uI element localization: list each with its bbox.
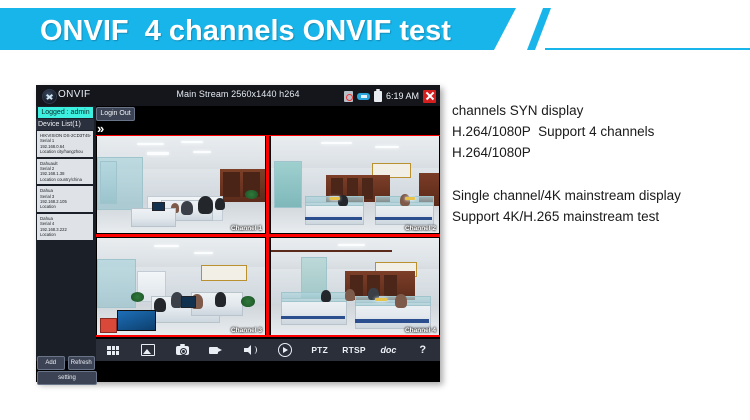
device-location: Location <box>40 204 91 209</box>
video-cell-channel-4[interactable]: Channel 4 <box>271 238 439 335</box>
device-list-header: Device List(1) <box>36 119 94 130</box>
video-grid: Channel 1 <box>96 135 440 337</box>
description-line-1: channels SYN display <box>452 100 742 121</box>
description-line-2: H.264/1080P Support 4 channels <box>452 121 742 142</box>
ptz-button[interactable]: PTZ <box>302 339 336 361</box>
battery-icon <box>374 91 382 102</box>
channel-label: Channel 2 <box>405 225 436 232</box>
help-button[interactable]: ? <box>406 339 440 361</box>
grid-divider-horizontal <box>96 234 440 237</box>
header-banner: ONVIF 4 channels ONVIF test <box>0 8 750 50</box>
description-line-4: Single channel/4K mainstream display <box>452 185 742 206</box>
banner-chevron-shape <box>525 8 570 50</box>
description-panel: channels SYN display H.264/1080P Support… <box>452 100 742 227</box>
device-location: Location country/china <box>40 177 91 182</box>
playback-button[interactable] <box>268 339 302 361</box>
channel-label: Channel 4 <box>405 327 436 334</box>
audio-button[interactable] <box>234 339 268 361</box>
grid-border-bottom <box>96 335 440 337</box>
play-icon <box>278 343 292 357</box>
record-video-button[interactable] <box>199 339 233 361</box>
help-icon: ? <box>419 344 426 356</box>
speaker-icon <box>244 345 257 355</box>
list-item[interactable]: Dahua Serial 3 192.168.2.105 Location <box>37 186 93 212</box>
device-location: Location <box>40 232 91 237</box>
device-location: Location city/hangzhou <box>40 149 91 154</box>
logged-user-badge: Logged : admin <box>38 107 93 118</box>
page-root: ONVIF 4 channels ONVIF test ONVIF Main S… <box>0 0 750 420</box>
device-list[interactable]: HIKVISION DS-2CD3T45-I3 Serial 1 192.168… <box>37 131 93 336</box>
clock-label: 6:19 AM <box>386 91 419 101</box>
refresh-button[interactable]: Refresh <box>68 356 96 370</box>
video-cell-channel-2[interactable]: Channel 2 <box>271 136 439 233</box>
device-sidebar: Logged : admin Device List(1) HIKVISION … <box>36 106 96 361</box>
device-toolbar: PTZ RTSP doc ? <box>96 339 440 361</box>
list-item[interactable]: Dahua Serial 4 192.168.3.222 Location <box>37 214 93 240</box>
list-item[interactable]: Dahuault Serial 2 192.168.1.38 Location … <box>37 159 93 185</box>
list-item[interactable]: HIKVISION DS-2CD3T45-I3 Serial 1 192.168… <box>37 131 93 157</box>
video-icon <box>209 346 223 355</box>
rtsp-label: RTSP <box>342 345 365 355</box>
device-titlebar: ONVIF Main Stream 2560x1440 h264 6:19 AM <box>36 85 440 106</box>
onvif-tester-device: ONVIF Main Stream 2560x1440 h264 6:19 AM… <box>36 85 440 382</box>
video-cell-channel-3[interactable]: Channel 3 <box>97 238 265 335</box>
description-spacer <box>452 163 742 185</box>
setting-button[interactable]: setting <box>37 371 97 385</box>
doc-label: doc <box>380 345 396 355</box>
network-icon[interactable] <box>357 92 370 101</box>
page-title: ONVIF 4 channels ONVIF test <box>40 15 451 48</box>
banner-underline <box>545 48 750 50</box>
channel-label: Channel 3 <box>231 327 262 334</box>
record-icon[interactable] <box>344 91 353 102</box>
doc-button[interactable]: doc <box>371 339 405 361</box>
ptz-label: PTZ <box>311 345 328 355</box>
capture-button[interactable] <box>165 339 199 361</box>
login-out-button[interactable]: Login Out <box>96 107 135 121</box>
menu-button[interactable] <box>96 339 130 361</box>
sidebar-buttons: Add Refresh <box>37 356 95 368</box>
description-line-3: H.264/1080P <box>452 142 742 163</box>
camera-icon <box>176 346 189 355</box>
titlebar-status-icons: 6:19 AM <box>344 88 436 104</box>
channel-label: Channel 1 <box>231 225 262 232</box>
add-button[interactable]: Add <box>37 356 65 370</box>
video-cell-channel-1[interactable]: Channel 1 <box>97 136 265 233</box>
menu-icon <box>107 346 119 355</box>
snapshot-gallery-button[interactable] <box>130 339 164 361</box>
picture-icon <box>141 344 155 356</box>
description-line-5: Support 4K/H.265 mainstream test <box>452 206 742 227</box>
close-icon[interactable] <box>423 90 436 103</box>
rtsp-button[interactable]: RTSP <box>337 339 371 361</box>
sidebar-expander-icon[interactable]: » <box>97 122 104 135</box>
